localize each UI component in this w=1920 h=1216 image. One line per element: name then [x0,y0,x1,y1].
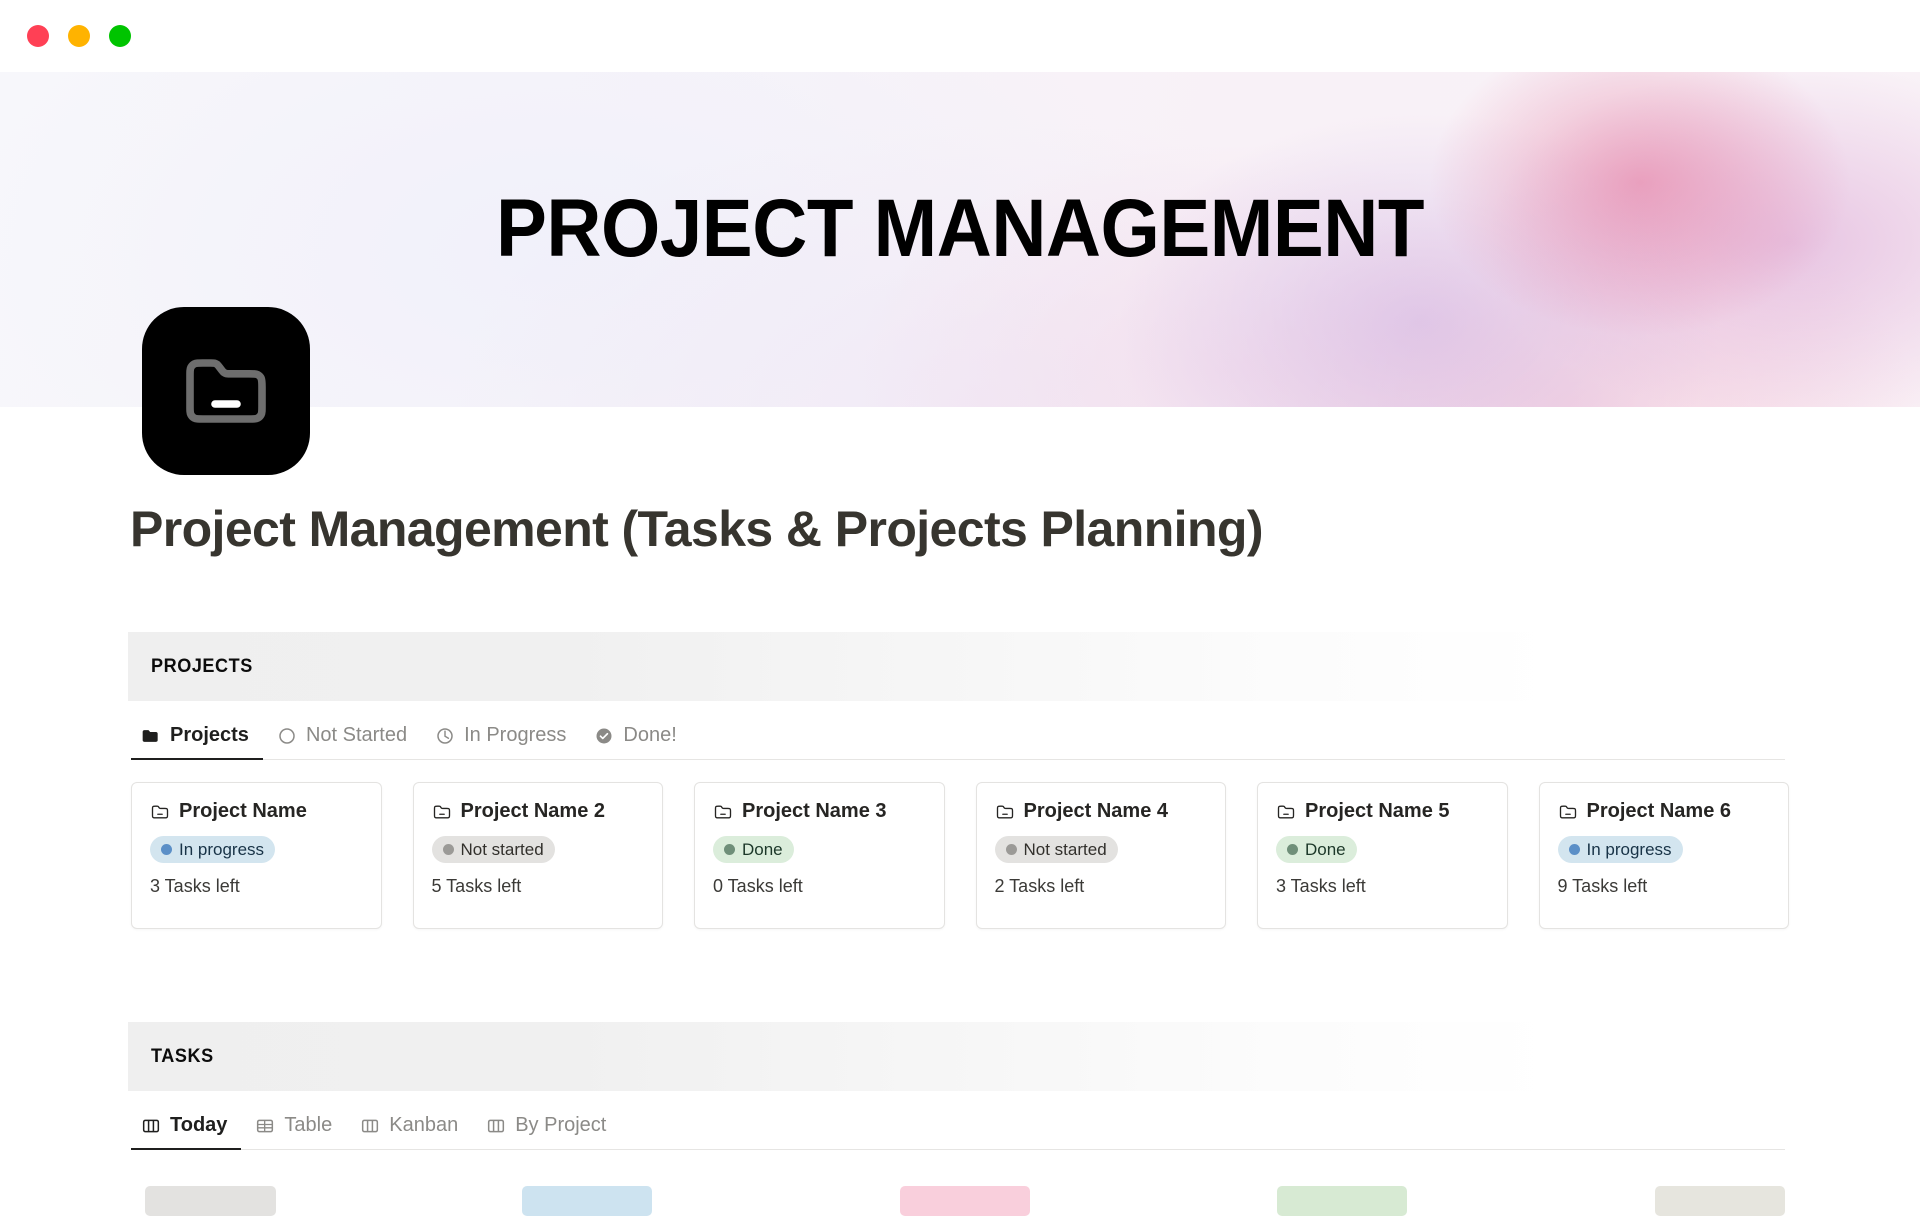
kanban-column-pill[interactable] [1655,1186,1785,1216]
project-card-title-row: Project Name [150,800,363,823]
tab-not-started[interactable]: Not Started [263,712,421,759]
folder-icon [1558,802,1578,822]
page-title: Project Management (Tasks & Projects Pla… [130,500,1263,558]
tab-table-label: Table [284,1114,332,1137]
tasks-left-label: 0 Tasks left [713,876,926,897]
tab-kanban[interactable]: Kanban [346,1102,472,1149]
project-card[interactable]: Project Name 6 In progress 9 Tasks left [1539,782,1790,929]
project-card-title: Project Name 5 [1305,800,1450,823]
status-badge: Done [713,836,794,863]
status-dot [1569,844,1580,855]
project-card-title-row: Project Name 3 [713,800,926,823]
project-card-title-row: Project Name 5 [1276,800,1489,823]
status-label: Not started [461,840,544,860]
tasks-left-label: 5 Tasks left [432,876,645,897]
status-dot [724,844,735,855]
page-icon[interactable] [142,307,310,475]
status-dot [1287,844,1298,855]
status-badge: Not started [432,836,555,863]
tab-in-progress[interactable]: In Progress [421,712,580,759]
folder-icon [150,802,170,822]
check-circle-icon [594,726,614,746]
kanban-column-headers-peek [0,1186,1920,1200]
project-card[interactable]: Project Name In progress 3 Tasks left [131,782,382,929]
project-card[interactable]: Project Name 5 Done 3 Tasks left [1257,782,1508,929]
projects-tabbar: Projects Not Started In Progress [131,712,1785,760]
status-label: In progress [1587,840,1672,860]
board-icon [486,1116,506,1136]
status-dot [1006,844,1017,855]
tab-not-started-label: Not Started [306,724,407,747]
tab-today[interactable]: Today [131,1102,241,1149]
page-body: Project Management (Tasks & Projects Pla… [0,0,1920,1200]
status-label: Done [1305,840,1346,860]
status-dot [161,844,172,855]
project-card-title: Project Name 2 [461,800,606,823]
project-card[interactable]: Project Name 3 Done 0 Tasks left [694,782,945,929]
kanban-column-pill[interactable] [145,1186,276,1216]
folder-icon [1276,802,1296,822]
project-cards-row: Project Name In progress 3 Tasks left Pr… [131,782,1789,929]
clock-icon [435,726,455,746]
status-label: In progress [179,840,264,860]
project-card-title: Project Name 6 [1587,800,1732,823]
tasks-left-label: 3 Tasks left [150,876,363,897]
tab-today-label: Today [170,1114,227,1137]
tab-done[interactable]: Done! [580,712,690,759]
status-label: Done [742,840,783,860]
folder-icon [432,802,452,822]
project-card[interactable]: Project Name 2 Not started 5 Tasks left [413,782,664,929]
project-card-title-row: Project Name 2 [432,800,645,823]
folder-icon [995,802,1015,822]
tab-kanban-label: Kanban [389,1114,458,1137]
tasks-tabbar: Today Table Kanban [131,1102,1785,1150]
status-badge: Not started [995,836,1118,863]
tab-projects[interactable]: Projects [131,712,263,759]
tab-by-project[interactable]: By Project [472,1102,620,1149]
folder-icon [178,343,274,439]
board-icon [360,1116,380,1136]
status-badge: In progress [1558,836,1683,863]
kanban-column-pill[interactable] [1277,1186,1407,1216]
project-card-title-row: Project Name 4 [995,800,1208,823]
projects-section-label: PROJECTS [151,656,253,678]
projects-section-header: PROJECTS [128,632,1789,701]
project-card[interactable]: Project Name 4 Not started 2 Tasks left [976,782,1227,929]
status-label: Not started [1024,840,1107,860]
board-icon [141,1116,161,1136]
tab-table[interactable]: Table [241,1102,346,1149]
tasks-left-label: 3 Tasks left [1276,876,1489,897]
project-card-title: Project Name 4 [1024,800,1169,823]
table-icon [255,1116,275,1136]
folder-filled-icon [141,726,161,746]
tasks-left-label: 2 Tasks left [995,876,1208,897]
kanban-column-pill[interactable] [522,1186,652,1216]
circle-outline-icon [277,726,297,746]
status-badge: Done [1276,836,1357,863]
project-card-title-row: Project Name 6 [1558,800,1771,823]
kanban-column-pill[interactable] [900,1186,1030,1216]
status-dot [443,844,454,855]
status-badge: In progress [150,836,275,863]
project-card-title: Project Name [179,800,307,823]
folder-icon [713,802,733,822]
tab-projects-label: Projects [170,724,249,747]
tasks-left-label: 9 Tasks left [1558,876,1771,897]
tasks-section-label: TASKS [151,1046,214,1068]
tab-by-project-label: By Project [515,1114,606,1137]
tab-in-progress-label: In Progress [464,724,566,747]
tab-done-label: Done! [623,724,676,747]
tasks-section-header: TASKS [128,1022,1789,1091]
project-card-title: Project Name 3 [742,800,887,823]
